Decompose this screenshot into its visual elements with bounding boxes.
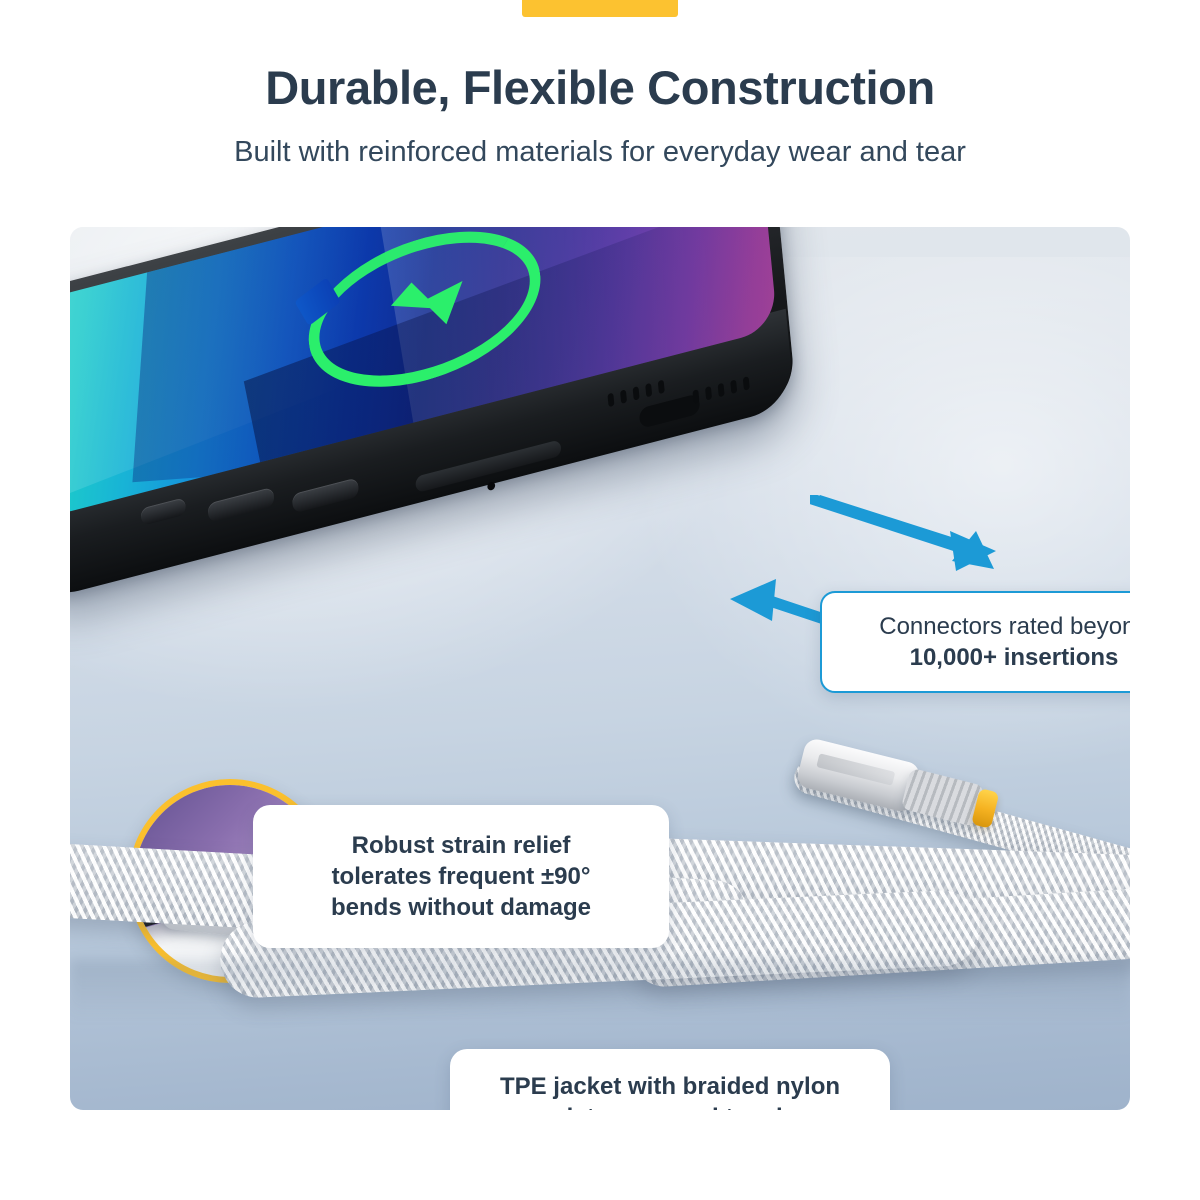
header: Durable, Flexible Construction Built wit… [0,0,1200,169]
callout-strain-relief: Robust strain relief tolerates frequent … [253,805,669,948]
phone-microphone-hole [487,481,496,491]
cable-ground-shadow [70,960,1130,1020]
callout-strain-line-2: tolerates frequent ±90° [253,861,669,892]
callout-strain-line-1: Robust strain relief [253,830,669,861]
callout-tpe-jacket: TPE jacket with braided nylon resists we… [450,1049,890,1110]
callout-tpe-line-2: resists wear and tangles [450,1102,890,1110]
callout-connectors: Connectors rated beyond 10,000+ insertio… [820,591,1130,693]
callout-connectors-line-2: 10,000+ insertions [822,642,1130,673]
callout-tpe-material-highlight: braided nylon [683,1073,840,1100]
connector-brand-emboss [816,753,895,785]
callout-tpe-line-1: TPE jacket with braided nylon [450,1071,890,1102]
illustration-panel: Connectors rated beyond 10,000+ insertio… [70,227,1130,1110]
callout-strain-line-3: bends without damage [253,892,669,923]
callout-tpe-line-1-text: TPE jacket with [500,1073,683,1100]
callout-strain-angle-value: ±90° [541,863,590,890]
callout-strain-line-2-text: tolerates frequent [332,863,541,890]
page-subtitle: Built with reinforced materials for ever… [0,114,1200,169]
page-title: Durable, Flexible Construction [0,0,1200,114]
callout-connectors-line-1: Connectors rated beyond [822,611,1130,642]
